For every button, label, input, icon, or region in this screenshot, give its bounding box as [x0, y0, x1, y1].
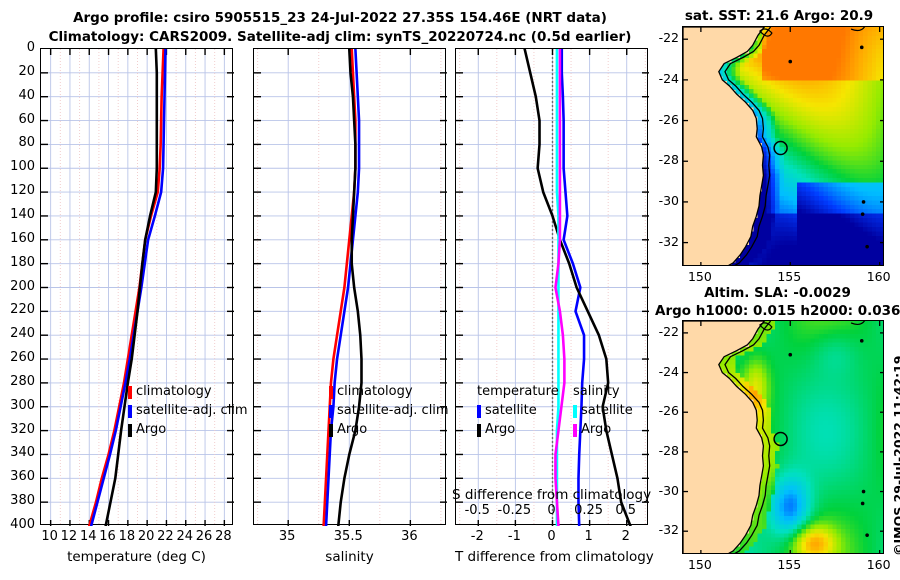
legend-swatch — [128, 405, 132, 418]
map-y-tick-label: -28 — [654, 443, 679, 458]
map-y-tick-label: -28 — [654, 152, 679, 167]
sla-map-title-line2: Argo h1000: 0.015 h2000: 0.036 — [655, 303, 900, 319]
legend-swatch — [477, 405, 481, 418]
x-axis-label: T difference from climatology — [455, 549, 648, 565]
legend-swatch — [573, 405, 577, 418]
legend-label: satellite-adj. clim — [136, 403, 248, 418]
y-tick-label: 140 — [1, 207, 35, 222]
legend-label: satellite — [581, 403, 633, 418]
y-tick-label: 260 — [1, 350, 35, 365]
y-tick-label: 160 — [1, 231, 35, 246]
difference-plot-area — [456, 49, 649, 526]
y-tick-label: 320 — [1, 422, 35, 437]
legend-label: Argo — [337, 422, 367, 437]
x-tick-label: 2 — [601, 529, 651, 544]
map-x-tick-label: 160 — [861, 269, 897, 284]
map-y-tick-label: -32 — [654, 522, 679, 537]
y-tick-label: 240 — [1, 326, 35, 341]
map-y-tick-label: -22 — [654, 30, 679, 45]
secondary-x-tick-label: 0.5 — [601, 503, 651, 518]
y-tick-label: 100 — [1, 159, 35, 174]
legend-swatch — [477, 424, 481, 437]
legend-group-title: salinity — [573, 384, 620, 399]
y-tick-label: 120 — [1, 183, 35, 198]
sla-map-field — [683, 321, 884, 554]
series-salinity-satellite — [557, 49, 558, 526]
sst-map-title: sat. SST: 21.6 Argo: 20.9 — [668, 8, 890, 24]
map-x-tick-label: 155 — [771, 269, 807, 284]
main-title-line1: Argo profile: csiro 5905515_23 24-Jul-20… — [0, 10, 680, 26]
x-tick-label: 28 — [198, 529, 248, 544]
map-y-tick-label: -30 — [654, 193, 679, 208]
y-tick-label: 40 — [1, 88, 35, 103]
main-title-line2: Climatology: CARS2009. Satellite-adj cli… — [0, 29, 680, 45]
map-x-tick-label: 150 — [682, 557, 718, 572]
map-y-tick-label: -30 — [654, 483, 679, 498]
legend-swatch — [329, 386, 333, 399]
y-tick-label: 20 — [1, 64, 35, 79]
y-tick-label: 340 — [1, 445, 35, 460]
legend-swatch — [573, 424, 577, 437]
secondary-x-axis-label: S difference from climatology — [452, 487, 651, 503]
map-y-tick-label: -24 — [654, 364, 679, 379]
legend-swatch — [329, 405, 333, 418]
map-y-tick-label: -26 — [654, 403, 679, 418]
map-y-tick-label: -32 — [654, 234, 679, 249]
legend-group-title: temperature — [477, 384, 559, 399]
sla-map — [682, 320, 884, 554]
map-x-tick-label: 160 — [861, 557, 897, 572]
y-tick-label: 220 — [1, 302, 35, 317]
legend-label: Argo — [485, 422, 515, 437]
y-tick-label: 0 — [1, 40, 35, 55]
legend-label: satellite-adj. clim — [337, 403, 449, 418]
legend-swatch — [128, 386, 132, 399]
legend-swatch — [128, 424, 132, 437]
map-x-tick-label: 155 — [771, 557, 807, 572]
y-tick-label: 280 — [1, 374, 35, 389]
sla-map-title-line1: Altim. SLA: -0.0029 — [660, 285, 895, 301]
y-tick-label: 200 — [1, 279, 35, 294]
map-y-tick-label: -24 — [654, 71, 679, 86]
x-axis-label: salinity — [253, 549, 446, 565]
x-tick-label: 35 — [262, 529, 312, 544]
sst-map — [682, 26, 884, 266]
sst-map-field — [683, 27, 884, 266]
map-y-tick-label: -22 — [654, 324, 679, 339]
y-tick-label: 180 — [1, 255, 35, 270]
y-tick-label: 360 — [1, 469, 35, 484]
map-y-tick-label: -26 — [654, 112, 679, 127]
salinity-plot-area — [254, 49, 447, 526]
legend-label: satellite — [485, 403, 537, 418]
legend-swatch — [329, 424, 333, 437]
y-tick-label: 380 — [1, 493, 35, 508]
y-tick-label: 60 — [1, 112, 35, 127]
temperature-profile-panel — [40, 48, 233, 525]
legend-label: climatology — [136, 384, 212, 399]
difference-profile-panel — [455, 48, 648, 525]
map-x-tick-label: 150 — [682, 269, 718, 284]
y-tick-label: 300 — [1, 398, 35, 413]
salinity-profile-panel — [253, 48, 446, 525]
x-tick-label: 36 — [384, 529, 434, 544]
x-axis-label: temperature (deg C) — [40, 549, 233, 565]
temperature-plot-area — [41, 49, 234, 526]
y-tick-label: 80 — [1, 135, 35, 150]
copyright-text: ©IMOS 29-Jul-2022 11:42:19 — [891, 355, 900, 556]
x-tick-label: 35.5 — [323, 529, 373, 544]
legend-label: Argo — [136, 422, 166, 437]
legend-label: Argo — [581, 422, 611, 437]
legend-label: climatology — [337, 384, 413, 399]
